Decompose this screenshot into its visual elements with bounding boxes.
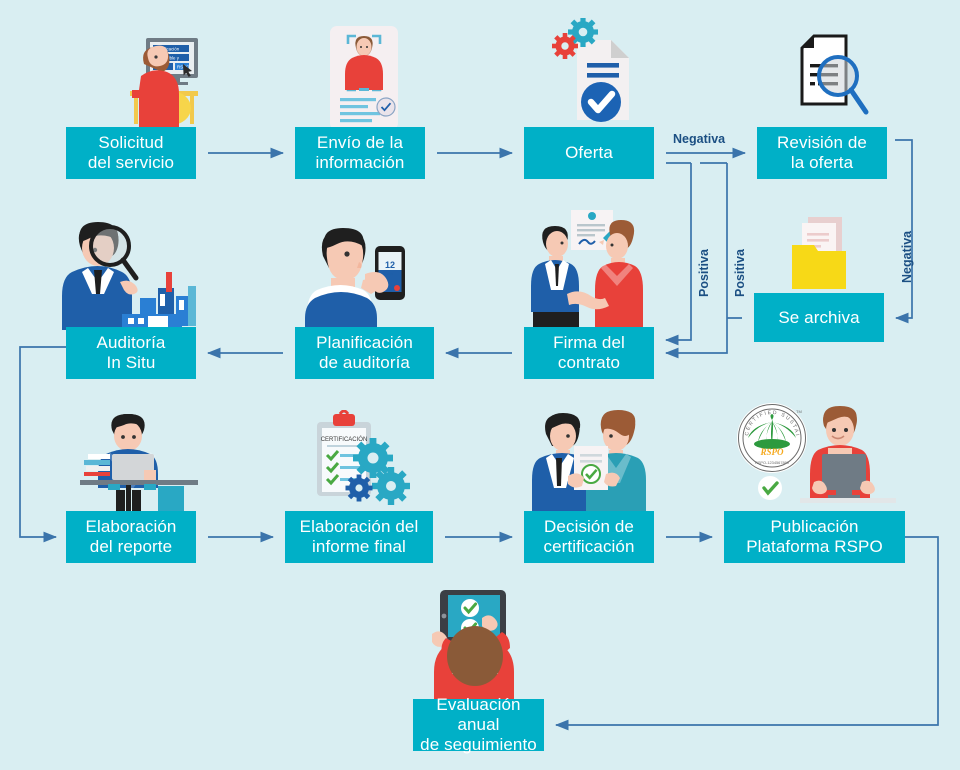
node-solicitud[interactable]: Solicitud del servicio xyxy=(66,127,196,179)
node-label: Envío de la información xyxy=(316,133,405,172)
edge-label-positiva-inner: Positiva xyxy=(733,249,747,297)
node-firma[interactable]: Firma del contrato xyxy=(524,327,654,379)
edge-publicacion-evaluacion xyxy=(556,537,938,725)
node-label: Oferta xyxy=(565,143,613,163)
rspo-logo-woman-laptop-icon: CERTIFIED SUSTAINABLE PALM OIL RSPO RSPO… xyxy=(728,400,898,512)
node-decision[interactable]: Decisión de certificación xyxy=(524,511,654,563)
flowchart-canvas: Certificación Sostenible y Social RSPO xyxy=(0,0,960,770)
svg-text:RSPO-1234567890: RSPO-1234567890 xyxy=(755,460,790,465)
svg-text:RSPO: RSPO xyxy=(759,447,784,457)
node-auditoria[interactable]: Auditoría In Situ xyxy=(66,327,196,379)
node-label: Firma del contrato xyxy=(553,333,625,372)
node-label: Elaboración del reporte xyxy=(86,517,177,556)
svg-text:CERTIFICACIÓN: CERTIFICACIÓN xyxy=(321,436,368,443)
man-smartphone-icon: 12 am xyxy=(305,218,425,330)
node-revision[interactable]: Revisión de la oferta xyxy=(757,127,887,179)
document-gears-check-icon xyxy=(545,18,645,130)
node-label: Solicitud del servicio xyxy=(88,133,174,172)
edge-revision-archiva xyxy=(895,140,912,318)
node-label: Se archiva xyxy=(778,308,859,328)
node-envio[interactable]: Envío de la información xyxy=(295,127,425,179)
edge-label-negativa-oferta: Negativa xyxy=(673,132,725,146)
node-label: Decisión de certificación xyxy=(543,517,634,556)
node-label: Elaboración del informe final xyxy=(300,517,419,556)
node-label: Evaluación anual de seguimiento xyxy=(417,695,540,754)
edge-auditoria-reporte xyxy=(20,347,66,537)
document-magnifier-icon xyxy=(780,22,876,130)
node-label: Auditoría In Situ xyxy=(97,333,166,372)
edge-label-positiva-outer: Positiva xyxy=(697,249,711,297)
node-planificacion[interactable]: Planificación de auditoría xyxy=(295,327,434,379)
person-tablet-checks-icon xyxy=(418,586,538,700)
node-informe[interactable]: Elaboración del informe final xyxy=(285,511,433,563)
two-people-document-icon xyxy=(528,408,650,514)
folder-documents-icon xyxy=(782,213,862,295)
edge-label-negativa-revision: Negativa xyxy=(900,231,914,283)
node-oferta[interactable]: Oferta xyxy=(524,127,654,179)
man-desk-laptop-icon xyxy=(62,408,204,512)
person-at-computer-icon: Certificación Sostenible y Social RSPO xyxy=(70,24,202,130)
edge-revision-firma xyxy=(666,163,691,340)
handshake-contract-icon xyxy=(525,208,655,330)
svg-text:12: 12 xyxy=(385,260,395,270)
node-archiva[interactable]: Se archiva xyxy=(754,293,884,342)
id-document-icon xyxy=(318,22,410,132)
inspector-factory-icon xyxy=(62,216,204,330)
svg-text:am: am xyxy=(387,271,393,276)
node-label: Planificación de auditoría xyxy=(316,333,413,372)
node-reporte[interactable]: Elaboración del reporte xyxy=(66,511,196,563)
svg-text:TM: TM xyxy=(796,409,802,414)
node-label: Revisión de la oferta xyxy=(777,133,867,172)
node-evaluacion[interactable]: Evaluación anual de seguimiento xyxy=(413,699,544,751)
clipboard-gears-icon: CERTIFICACIÓN xyxy=(303,410,415,514)
node-label: Publicación Plataforma RSPO xyxy=(746,517,883,556)
node-publicacion[interactable]: Publicación Plataforma RSPO xyxy=(724,511,905,563)
